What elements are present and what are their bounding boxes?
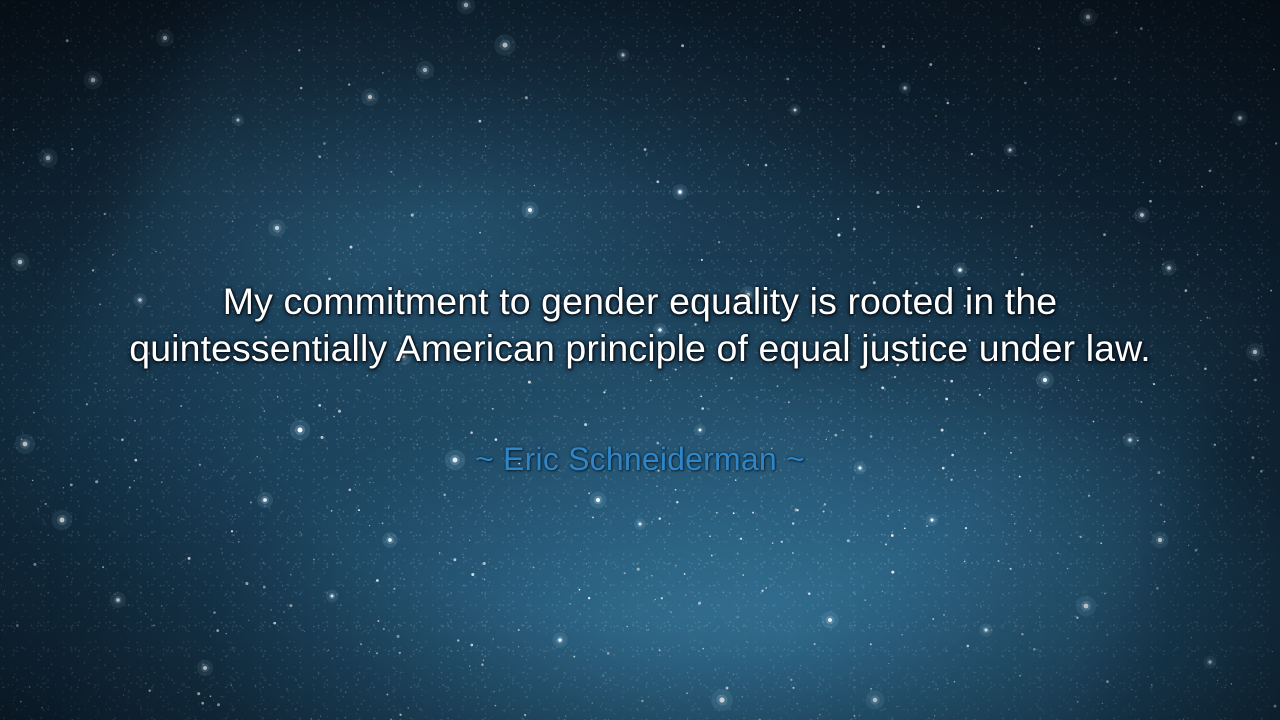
quote-text: My commitment to gender equality is root…: [120, 278, 1160, 372]
quote-card: My commitment to gender equality is root…: [0, 0, 1280, 720]
text-layer: My commitment to gender equality is root…: [0, 0, 1280, 720]
quote-attribution: ~ Eric Schneiderman ~: [190, 440, 1090, 478]
